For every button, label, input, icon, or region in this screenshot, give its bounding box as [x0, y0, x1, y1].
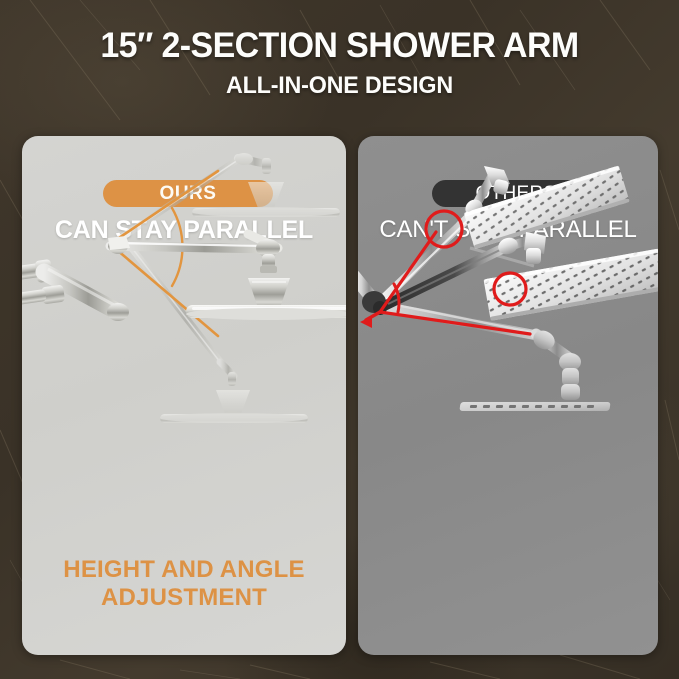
comparison-panel-ours: OURS CAN STAY PARALLEL	[22, 136, 346, 655]
arm-position-middle-solid	[108, 234, 346, 320]
product-illustration-others	[358, 136, 658, 655]
caption-ours-line2: ADJUSTMENT	[22, 584, 346, 612]
caption-ours: HEIGHT AND ANGLE ADJUSTMENT	[22, 556, 346, 612]
arm-position-upper-ghost	[115, 153, 340, 242]
comparison-panel-others: OTHERS CAN'T STAY PARALLEL	[358, 136, 658, 655]
arm-position-lower-ghost	[130, 246, 308, 423]
page-title: 15″ 2-SECTION SHOWER ARM	[10, 26, 669, 66]
caption-ours-line1: HEIGHT AND ANGLE	[22, 556, 346, 584]
wall-mount-fitting	[22, 259, 129, 321]
page-subtitle: ALL-IN-ONE DESIGN	[10, 72, 669, 100]
header: 15″ 2-SECTION SHOWER ARM ALL-IN-ONE DESI…	[0, 0, 679, 130]
